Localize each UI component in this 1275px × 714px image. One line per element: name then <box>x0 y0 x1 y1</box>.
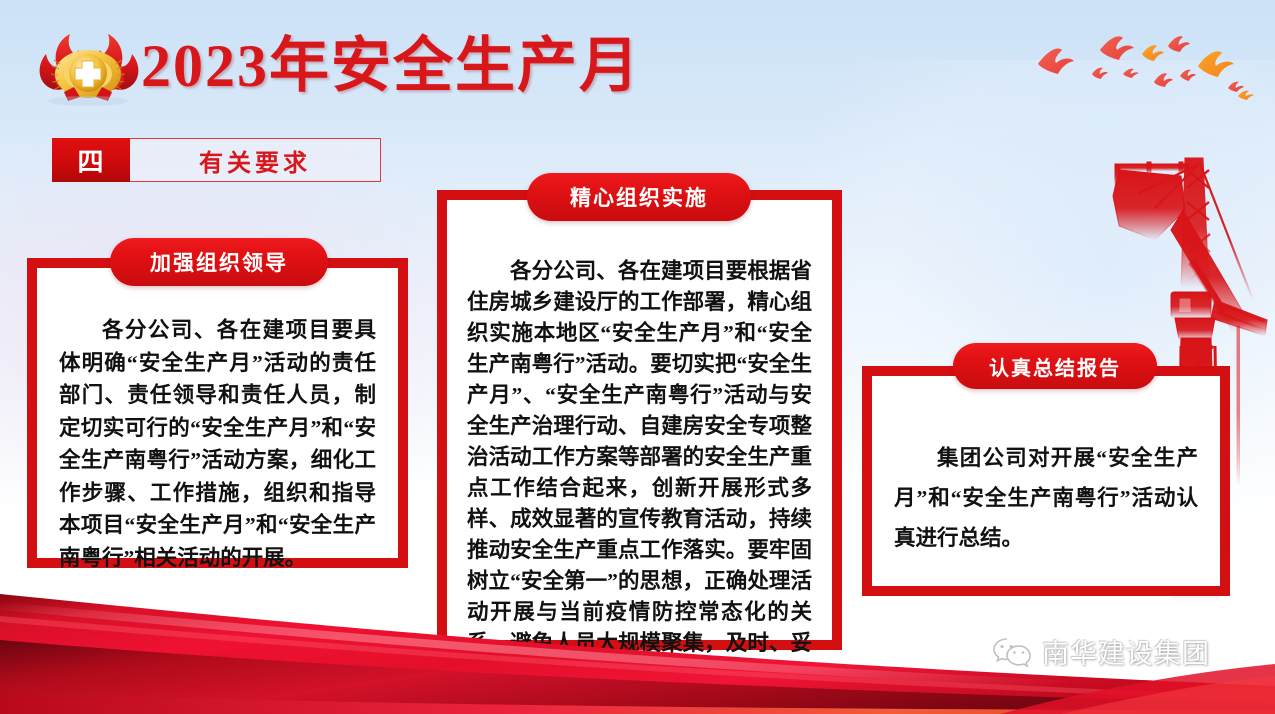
section-label: 有关要求 <box>130 138 381 182</box>
card-inner-1: 各分公司、各在建项目要具体明确“安全生产月”活动的责任部门、责任领导和责任人员，… <box>37 268 398 558</box>
section-header-bar: 四 有关要求 <box>52 138 381 182</box>
watermark: 南华建设集团 <box>992 632 1210 671</box>
wechat-icon <box>992 635 1032 669</box>
requirement-card-1: 各分公司、各在建项目要具体明确“安全生产月”活动的责任部门、责任领导和责任人员，… <box>27 258 408 568</box>
flying-birds-decoration-icon <box>1020 22 1275 118</box>
watermark-text: 南华建设集团 <box>1042 632 1210 671</box>
card-title-pill-2: 精心组织实施 <box>527 173 751 221</box>
card-body-1: 各分公司、各在建项目要具体明确“安全生产月”活动的责任部门、责任领导和责任人员，… <box>59 314 376 574</box>
section-number: 四 <box>52 138 130 182</box>
slide-canvas: 2023年安全生产月 四 有关要求 <box>0 0 1275 714</box>
card-body-3: 集团公司对开展“安全生产月”和“安全生产南粤行”活动认真进行总结。 <box>894 438 1198 558</box>
card-title-pill-3: 认真总结报告 <box>953 343 1157 389</box>
card-title-pill-1: 加强组织领导 <box>110 238 328 286</box>
safety-production-emblem-icon <box>24 26 152 108</box>
page-title: 2023年安全生产月 <box>141 28 641 104</box>
